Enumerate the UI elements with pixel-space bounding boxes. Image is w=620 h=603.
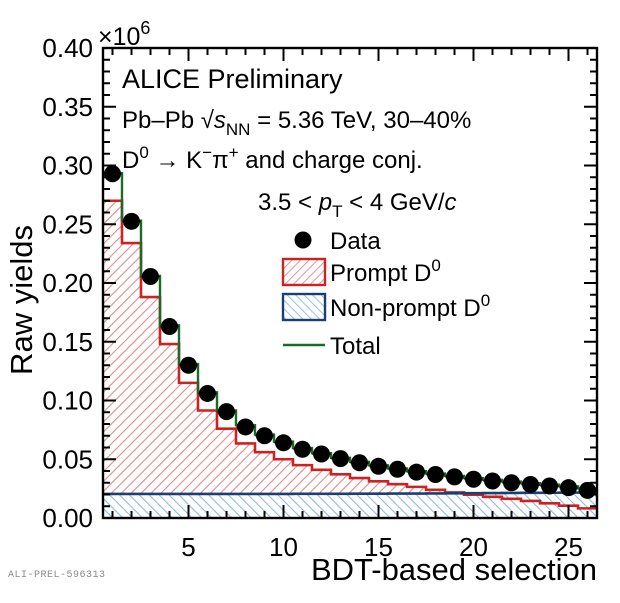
legend-marker-nonprompt <box>283 294 325 320</box>
tick-label: 5 <box>181 532 195 562</box>
data-point <box>142 268 159 285</box>
data-point <box>104 165 121 182</box>
decay-channel-label: D0 → K−π+ and charge conj. <box>122 143 423 174</box>
data-point <box>484 472 501 489</box>
legend-label-total: Total <box>330 333 381 360</box>
tick-label: 0.10 <box>42 386 93 416</box>
legend-label-data: Data <box>330 228 381 255</box>
data-point <box>389 461 406 478</box>
data-point <box>218 403 235 420</box>
data-point <box>332 450 349 467</box>
data-point <box>427 466 444 483</box>
tick-label: 0.30 <box>42 151 93 181</box>
data-point <box>503 474 520 491</box>
tick-label: 0.25 <box>42 209 93 239</box>
data-point <box>180 357 197 374</box>
pt-range-label: 3.5 < pT < 4 GeV/c <box>258 189 457 221</box>
nonprompt-d0-area <box>103 493 597 518</box>
tick-label: 0.20 <box>42 268 93 298</box>
collision-system-label: Pb–Pb √sNN = 5.36 TeV, 30–40% <box>122 107 471 139</box>
data-point <box>199 385 216 402</box>
data-point <box>541 478 558 495</box>
nonprompt-d0-outline <box>103 493 597 494</box>
legend-label-nonprompt: Non-prompt D0 <box>330 291 490 322</box>
legend-label-prompt: Prompt D0 <box>330 256 441 287</box>
experiment-label: ALICE Preliminary <box>122 64 343 94</box>
tick-label: 0.40 <box>42 33 93 63</box>
legend: Data Prompt D0 Non-prompt D0 Total <box>283 228 490 360</box>
y-exponent-label: ×106 <box>98 18 150 51</box>
data-point <box>579 482 596 499</box>
x-axis-title: BDT-based selection <box>311 552 597 587</box>
data-point <box>123 213 140 230</box>
data-point <box>370 458 387 475</box>
data-point <box>560 479 577 496</box>
legend-marker-prompt <box>283 259 325 285</box>
data-point <box>275 434 292 451</box>
data-point <box>256 427 273 444</box>
data-point <box>161 318 178 335</box>
y-axis-title: Raw yields <box>4 225 39 375</box>
data-point <box>294 441 311 458</box>
data-point <box>237 418 254 435</box>
data-point <box>522 476 539 493</box>
tick-label: 0.15 <box>42 327 93 357</box>
tick-label: 0.00 <box>42 503 93 533</box>
tick-label: 10 <box>269 532 298 562</box>
legend-marker-data <box>295 232 312 249</box>
data-point <box>313 445 330 462</box>
data-point <box>408 464 425 481</box>
figure-canvas: 0.000.050.100.150.200.250.300.350.405101… <box>0 0 620 603</box>
data-point <box>446 468 463 485</box>
tick-label: 0.05 <box>42 444 93 474</box>
tick-label: 0.35 <box>42 92 93 122</box>
data-point <box>351 454 368 471</box>
data-point <box>465 471 482 488</box>
